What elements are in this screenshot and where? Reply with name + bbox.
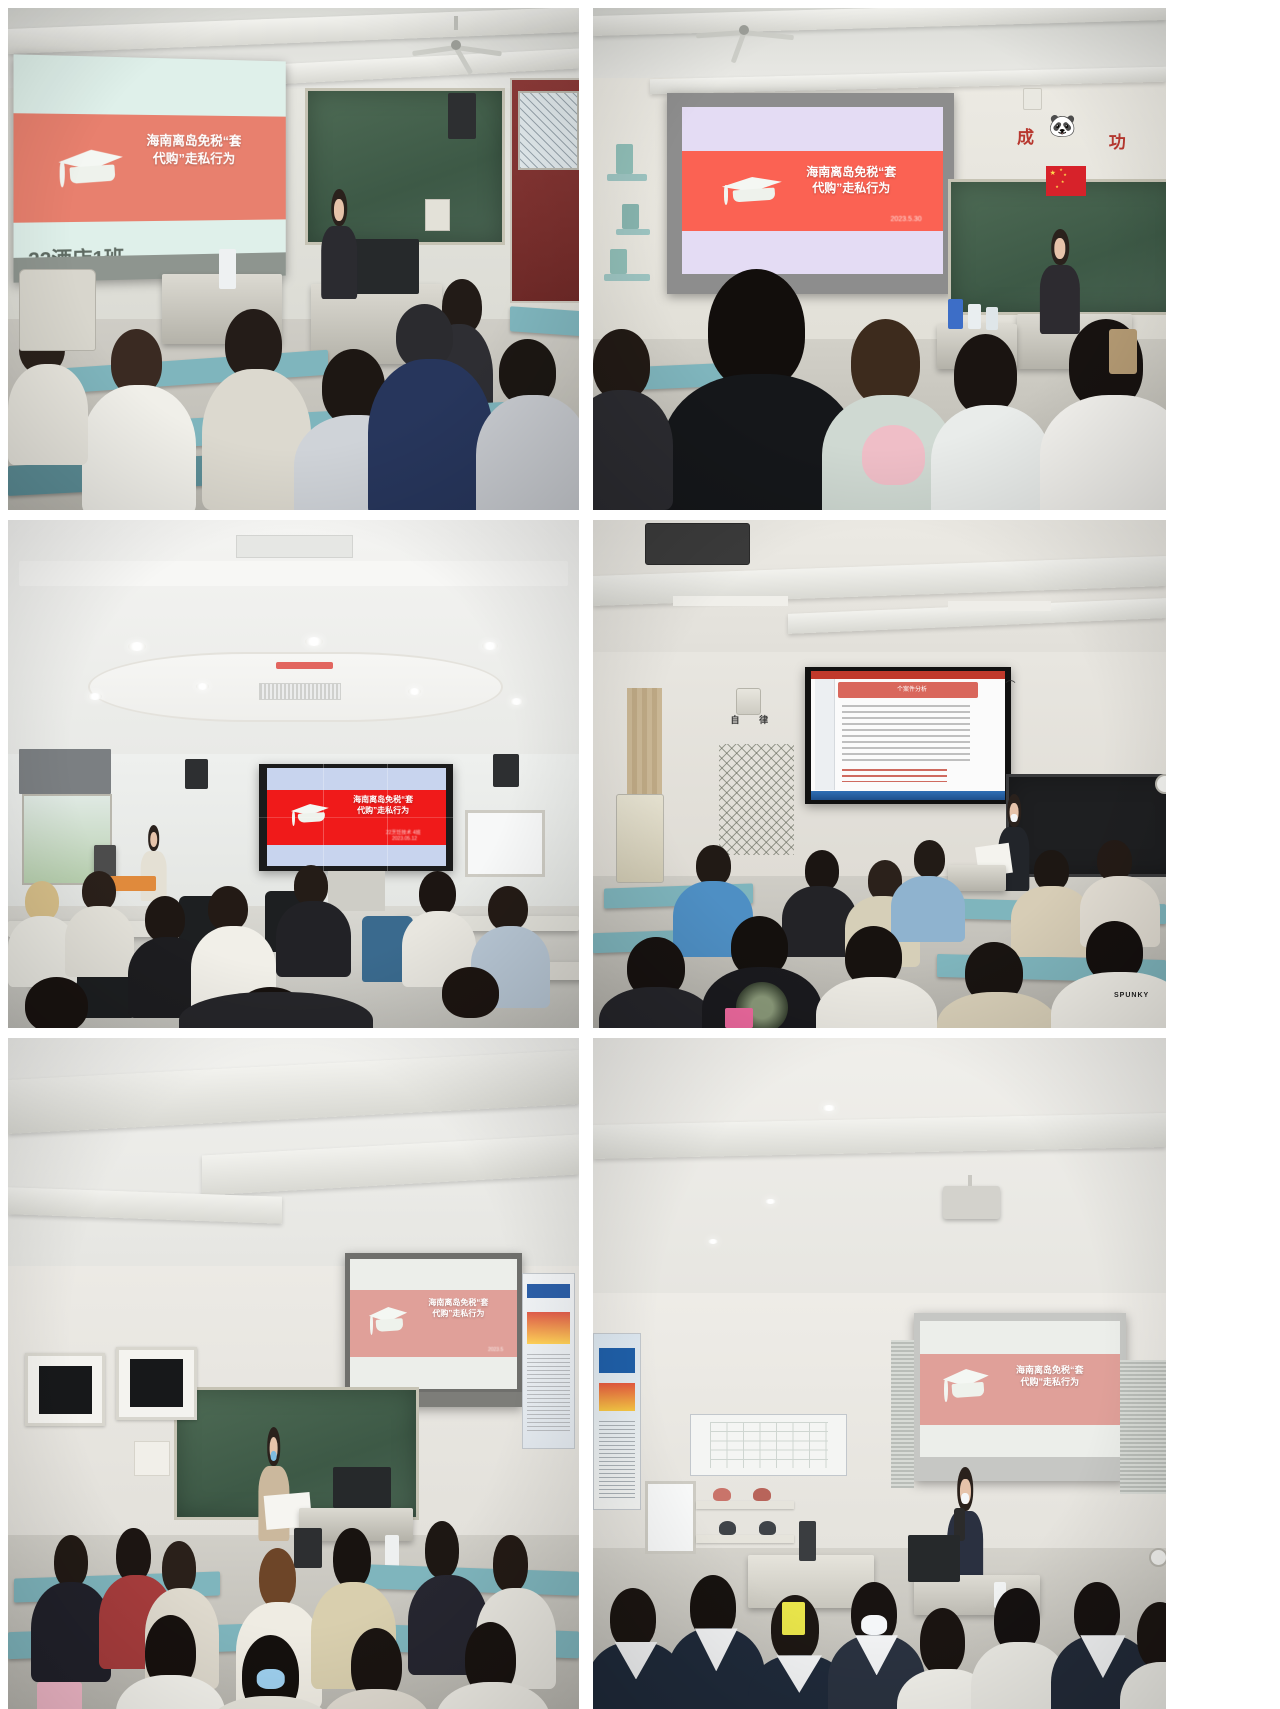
student-head [162, 1541, 196, 1595]
ceiling-light [482, 642, 498, 650]
ceiling-light [408, 688, 421, 695]
framed-photo-right [116, 1347, 196, 1420]
photo-3-smart-classroom[interactable]: 海南离岛免税“套 代购”走私行为 22烹饪技术 4班 2023.05.12 [8, 520, 579, 1028]
slide-title: 海南离岛免税“套 代购”走私行为 [115, 132, 270, 167]
ceiling-light [196, 683, 209, 690]
wall-character-success-1: 成 [1017, 123, 1034, 148]
student-body [368, 359, 494, 510]
slide-5: 海南离岛免税“套 代购”走私行为 2023.5 [350, 1259, 516, 1389]
student-head [696, 845, 730, 886]
student-head [920, 1608, 966, 1675]
presenter-2 [1034, 229, 1086, 334]
student-head [145, 896, 185, 942]
ceiling-ac-unit [645, 523, 750, 566]
plant-shelf [607, 174, 647, 181]
small-whiteboard [645, 1481, 697, 1554]
room-scene-4: 个案件分析 ⌒ 自 律 [593, 520, 1166, 1028]
small-device [799, 1521, 816, 1561]
fluorescent-tube [673, 596, 788, 606]
plant-shelf [604, 274, 650, 281]
face-mask [861, 1615, 887, 1635]
ceiling-light [128, 642, 146, 651]
shelf-item [753, 1488, 770, 1501]
student-head [1097, 840, 1131, 881]
student-head [333, 1528, 370, 1588]
projection-screen: 海南离岛免税“套 代购”走私行为 2023.5.30 [667, 93, 954, 294]
ceiling-light [305, 637, 323, 646]
panda-reading-icon: 🐼 [1049, 113, 1076, 139]
ceiling-vent [236, 535, 352, 557]
photo-5-classroom-framed-photos[interactable]: 海南离岛免税“套 代购”走私行为 2023.5 [8, 1038, 579, 1709]
slide-subtitle: 22烹饪技术 4班 [386, 829, 421, 836]
air-vent [259, 683, 341, 700]
projection-screen: 海南离岛免税“套 代购”走私行为 22酒店1班 [13, 55, 285, 283]
slide-title: 海南离岛免税“套 代购”走私行为 [776, 164, 927, 196]
document-heading: 个案件分析 [842, 684, 982, 693]
macrame-wall-hanging [719, 744, 793, 856]
ceiling-accent-strip [276, 662, 333, 669]
face-mask [256, 1669, 285, 1689]
slide-6: 海南离岛免税“套 代购”走私行为 [920, 1321, 1119, 1457]
projection-screen: 个案件分析 [805, 667, 1011, 804]
room-scene-5: 海南离岛免税“套 代购”走私行为 2023.5 [8, 1038, 579, 1709]
student-body [891, 876, 965, 942]
photo-collage: 海南离岛免税“套 代购”走私行为 22酒店1班 [0, 0, 1280, 1706]
empty-chair [19, 269, 95, 351]
wall-clock-icon [1149, 1548, 1166, 1567]
student-head [294, 865, 328, 906]
student-head [488, 886, 528, 932]
student-head [914, 840, 946, 878]
ceiling-projector [943, 1186, 1000, 1220]
wall-character: 律 [759, 713, 768, 726]
ceiling-light [765, 1199, 776, 1204]
plant-shelf [616, 229, 650, 236]
wall-sensor [1023, 88, 1042, 110]
student-body [276, 901, 350, 977]
student-head [208, 886, 248, 932]
student-head [593, 329, 650, 399]
room-scene-2: 海南离岛免税“套 代购”走私行为 2023.5.30 成 功 🐼 ★ [593, 8, 1166, 510]
graduation-cap-icon [367, 1305, 410, 1340]
student-head [54, 1535, 88, 1589]
slide-1: 海南离岛免税“套 代购”走私行为 22酒店1班 [13, 55, 285, 283]
student-head [425, 1521, 459, 1578]
wall-switch[interactable] [425, 199, 450, 231]
led-display-wall: 海南离岛免税“套 代购”走私行为 22烹饪技术 4班 2023.05.12 [259, 764, 453, 871]
sanitizer-bottle [968, 304, 981, 329]
photo-1-classroom-projection[interactable]: 海南离岛免税“套 代购”走私行为 22酒店1班 [8, 8, 579, 510]
pull-down-projection-screen: 海南离岛免税“套 代购”走私行为 [914, 1313, 1126, 1481]
pull-down-projection-screen: 海南离岛免税“套 代购”走私行为 2023.5 [345, 1253, 522, 1407]
wall-ac-control [736, 688, 761, 715]
wall-speaker [185, 759, 208, 789]
shelf-item [713, 1488, 730, 1501]
photo-4-document-projection[interactable]: 个案件分析 ⌒ 自 律 [593, 520, 1166, 1028]
room-scene-6: 海南离岛免税“套 代购”走私行为 [593, 1038, 1166, 1709]
photo-6-uniform-class[interactable]: 海南离岛免税“套 代购”走私行为 [593, 1038, 1166, 1709]
hair-claw-clip [1109, 329, 1138, 374]
student-head [25, 881, 59, 922]
student-body [476, 395, 579, 510]
student-head [419, 871, 456, 917]
presenter-1 [316, 189, 362, 299]
whiteboard [465, 810, 545, 877]
sanitizer-bottle [986, 307, 999, 330]
framed-photo-left [25, 1353, 105, 1426]
student-head [805, 850, 839, 891]
bottle-blue [948, 299, 962, 329]
student-head-front [442, 967, 499, 1018]
window-blinds [1120, 1360, 1166, 1494]
student-head [851, 319, 920, 404]
student-body [82, 385, 196, 511]
student-body [8, 364, 88, 464]
slide-2: 海南离岛免税“套 代购”走私行为 2023.5.30 [682, 107, 943, 274]
student-body [65, 906, 134, 977]
teacher-monitor [333, 1467, 390, 1507]
hair-clip [782, 1602, 805, 1636]
classroom-door [510, 78, 579, 303]
graduation-cap-icon [288, 803, 331, 829]
potted-plant [610, 249, 627, 274]
wall-notice [134, 1441, 170, 1477]
collage-grid: 海南离岛免税“套 代购”走私行为 22酒店1班 [8, 8, 1166, 1709]
info-poster [593, 1333, 641, 1509]
fluorescent-tube [948, 601, 1051, 611]
ceiling-fan-icon [690, 13, 798, 47]
slide-subtitle: 2023.5.30 [891, 216, 922, 223]
wall-character-success-2: 功 [1109, 128, 1126, 153]
smartphone[interactable] [725, 1008, 754, 1028]
display-shelf [696, 1501, 793, 1509]
desktop-monitor [908, 1535, 960, 1582]
student-head-front [708, 269, 805, 389]
window-blinds [891, 1340, 914, 1488]
slide-4-document: 个案件分析 [811, 671, 1005, 800]
ceiling-fan-icon [408, 28, 504, 62]
desk-speaker [294, 1528, 323, 1568]
ceiling [593, 1038, 1166, 1293]
slide-subtitle: 2023.5 [488, 1347, 503, 1353]
wall-scribble: ⌒ [1006, 677, 1029, 692]
student-head [493, 1535, 527, 1592]
graduation-cap-icon [940, 1367, 992, 1408]
hello-kitty-print [862, 425, 925, 485]
wall-speaker [493, 754, 519, 787]
sanitizer-bottle [219, 249, 236, 289]
student-head [259, 1548, 296, 1608]
water-bottle [385, 1535, 399, 1569]
student-body [1040, 395, 1166, 510]
chinese-flag-icon: ★ ★ ★ ★ ★ [1046, 166, 1086, 196]
window-blind [19, 749, 110, 795]
floor-standing-ac [616, 794, 664, 882]
student-head [954, 334, 1017, 414]
wall-schedule-board [690, 1414, 847, 1476]
potted-plant [622, 204, 639, 229]
ceiling-light [88, 693, 102, 700]
slide-title: 海南离岛免税“套 代购”走私行为 [331, 795, 435, 817]
student-head [116, 1528, 150, 1582]
display-shelf [696, 1535, 793, 1543]
potted-plant [616, 144, 633, 174]
shelf-item [719, 1521, 736, 1534]
tshirt-text: SPUNKY [1086, 992, 1166, 999]
wall-speaker [448, 93, 477, 138]
student-head [1034, 850, 1068, 891]
student-body [931, 405, 1051, 510]
student-head [610, 1588, 656, 1648]
pink-bag [37, 1682, 83, 1709]
slide-date: 2023.05.12 [392, 836, 417, 842]
shelf-item [759, 1521, 776, 1534]
photo-2-classroom-flag[interactable]: 海南离岛免税“套 代购”走私行为 2023.5.30 成 功 🐼 ★ [593, 8, 1166, 510]
slide-title: 海南离岛免税“套 代购”走私行为 [992, 1364, 1108, 1388]
led-screen-stand [328, 871, 385, 912]
info-poster [522, 1273, 575, 1449]
student-head-front [25, 977, 88, 1028]
room-scene-1: 海南离岛免税“套 代购”走私行为 22酒店1班 [8, 8, 579, 510]
slide-title: 海南离岛免税“套 代购”走私行为 [410, 1298, 507, 1320]
student-head [82, 871, 116, 912]
room-scene-3: 海南离岛免税“套 代购”走私行为 22烹饪技术 4班 2023.05.12 [8, 520, 579, 1028]
ceiling-soffit [19, 561, 567, 586]
